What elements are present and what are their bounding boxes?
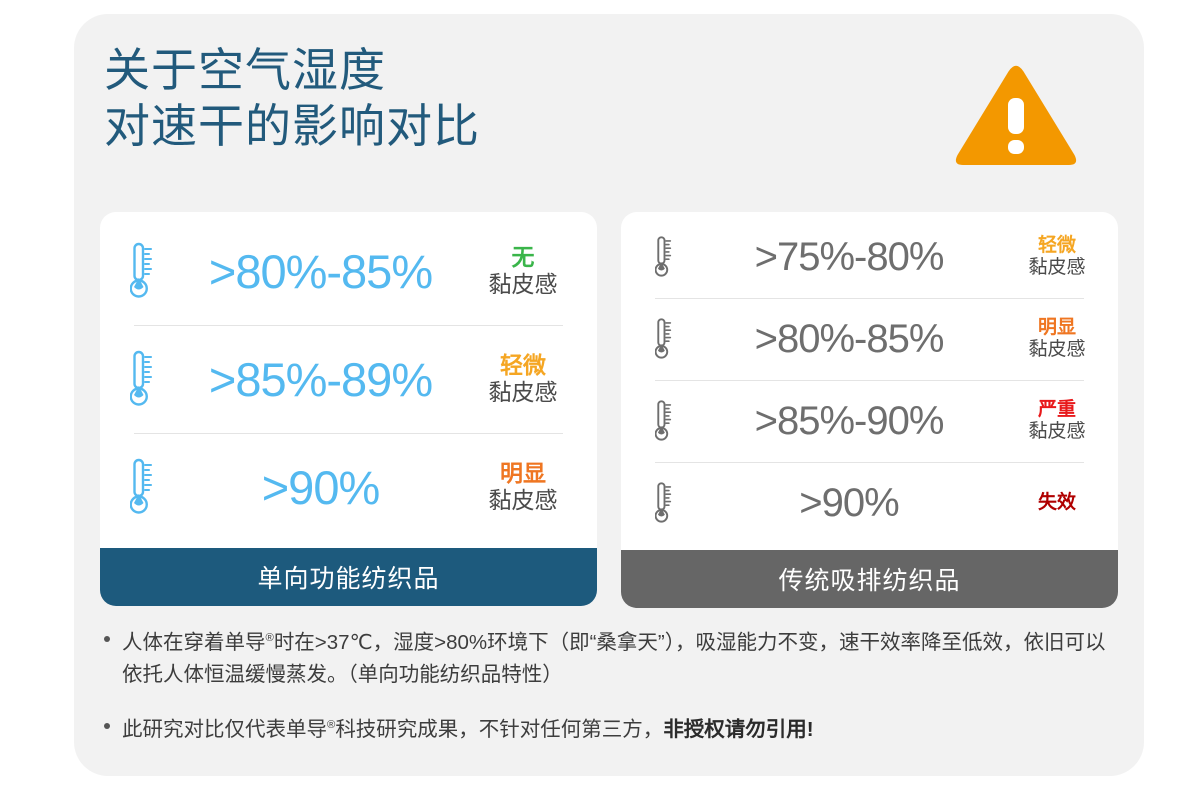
- verdict-level: 失效: [1014, 492, 1100, 514]
- thermometer-icon: [655, 398, 674, 444]
- card-body-right: >75%-80% 轻微 黏皮感: [621, 212, 1118, 550]
- verdict-sub: 黏皮感: [473, 379, 573, 406]
- header: 关于空气湿度 对速干的影响对比: [104, 42, 1114, 202]
- table-row: >85%-90% 严重 黏皮感: [621, 380, 1118, 462]
- verdict-level: 轻微: [1014, 235, 1100, 257]
- list-item: 此研究对比仅代表单导®科技研究成果，不针对任何第三方，非授权请勿引用!: [102, 709, 1114, 746]
- thermometer-icon: [655, 316, 674, 362]
- thermometer-icon: [655, 234, 674, 280]
- humidity-range: >90%: [684, 481, 1014, 526]
- content-panel: 关于空气湿度 对速干的影响对比: [74, 14, 1144, 776]
- verdict: 严重 黏皮感: [1014, 399, 1100, 444]
- table-row: >90% 明显 黏皮感: [100, 433, 597, 541]
- verdict-level: 明显: [1014, 317, 1100, 339]
- note-text: 人体在穿着单导®时在>37℃，湿度>80%环境下（即“桑拿天”），吸湿能力不变，…: [122, 622, 1114, 691]
- thermometer-icon: [130, 458, 156, 516]
- card-body-left: >80%-85% 无 黏皮感: [100, 212, 597, 548]
- humidity-range: >85%-90%: [684, 399, 1014, 444]
- verdict: 轻微 黏皮感: [1014, 235, 1100, 280]
- thermometer-icon: [130, 242, 156, 300]
- table-row: >85%-89% 轻微 黏皮感: [100, 325, 597, 433]
- humidity-range: >90%: [168, 460, 473, 515]
- note-emphasis: 非授权请勿引用!: [663, 718, 813, 741]
- note-body: 科技研究成果，不针对任何第三方，: [335, 718, 663, 741]
- table-row: >80%-85% 明显 黏皮感: [621, 298, 1118, 380]
- verdict-level: 明显: [473, 460, 573, 487]
- verdict-sub: 黏皮感: [1014, 339, 1100, 361]
- verdict: 失效: [1014, 492, 1100, 514]
- card-footer-label-left: 单向功能纺织品: [100, 548, 597, 606]
- card-traditional-wicking-textile: >75%-80% 轻微 黏皮感: [621, 212, 1118, 606]
- notes-list: 人体在穿着单导®时在>37℃，湿度>80%环境下（即“桑拿天”），吸湿能力不变，…: [102, 622, 1114, 764]
- verdict-level: 无: [473, 244, 573, 271]
- verdict-sub: 黏皮感: [1014, 257, 1100, 279]
- humidity-range: >80%-85%: [168, 244, 473, 299]
- infographic-page: 关于空气湿度 对速干的影响对比: [0, 0, 1200, 790]
- humidity-range: >75%-80%: [684, 235, 1014, 280]
- verdict-sub: 黏皮感: [473, 271, 573, 298]
- verdict-sub: 黏皮感: [473, 487, 573, 514]
- verdict-level: 严重: [1014, 399, 1100, 421]
- table-row: >90% 失效: [621, 462, 1118, 544]
- warning-triangle-icon: [952, 62, 1080, 174]
- table-row: >75%-80% 轻微 黏皮感: [621, 216, 1118, 298]
- verdict-level: 轻微: [473, 352, 573, 379]
- card-footer-label-right: 传统吸排纺织品: [621, 550, 1118, 608]
- verdict-sub: 黏皮感: [1014, 421, 1100, 443]
- verdict: 无 黏皮感: [473, 244, 573, 298]
- thermometer-icon: [130, 350, 156, 408]
- page-title: 关于空气湿度 对速干的影响对比: [104, 42, 480, 154]
- comparison-cards: >80%-85% 无 黏皮感: [100, 212, 1118, 606]
- bullet-dot-icon: [104, 636, 110, 642]
- list-item: 人体在穿着单导®时在>37℃，湿度>80%环境下（即“桑拿天”），吸湿能力不变，…: [102, 622, 1114, 691]
- humidity-range: >85%-89%: [168, 352, 473, 407]
- bullet-dot-icon: [104, 723, 110, 729]
- table-row: >80%-85% 无 黏皮感: [100, 217, 597, 325]
- note-prefix: 此研究对比仅代表单导: [122, 718, 327, 741]
- note-text: 此研究对比仅代表单导®科技研究成果，不针对任何第三方，非授权请勿引用!: [122, 709, 1114, 746]
- note-prefix: 人体在穿着单导: [122, 631, 266, 654]
- thermometer-icon: [655, 480, 674, 526]
- verdict: 明显 黏皮感: [473, 460, 573, 514]
- registered-trademark-icon: ®: [266, 632, 274, 644]
- verdict: 轻微 黏皮感: [473, 352, 573, 406]
- card-one-way-functional-textile: >80%-85% 无 黏皮感: [100, 212, 597, 606]
- verdict: 明显 黏皮感: [1014, 317, 1100, 362]
- humidity-range: >80%-85%: [684, 317, 1014, 362]
